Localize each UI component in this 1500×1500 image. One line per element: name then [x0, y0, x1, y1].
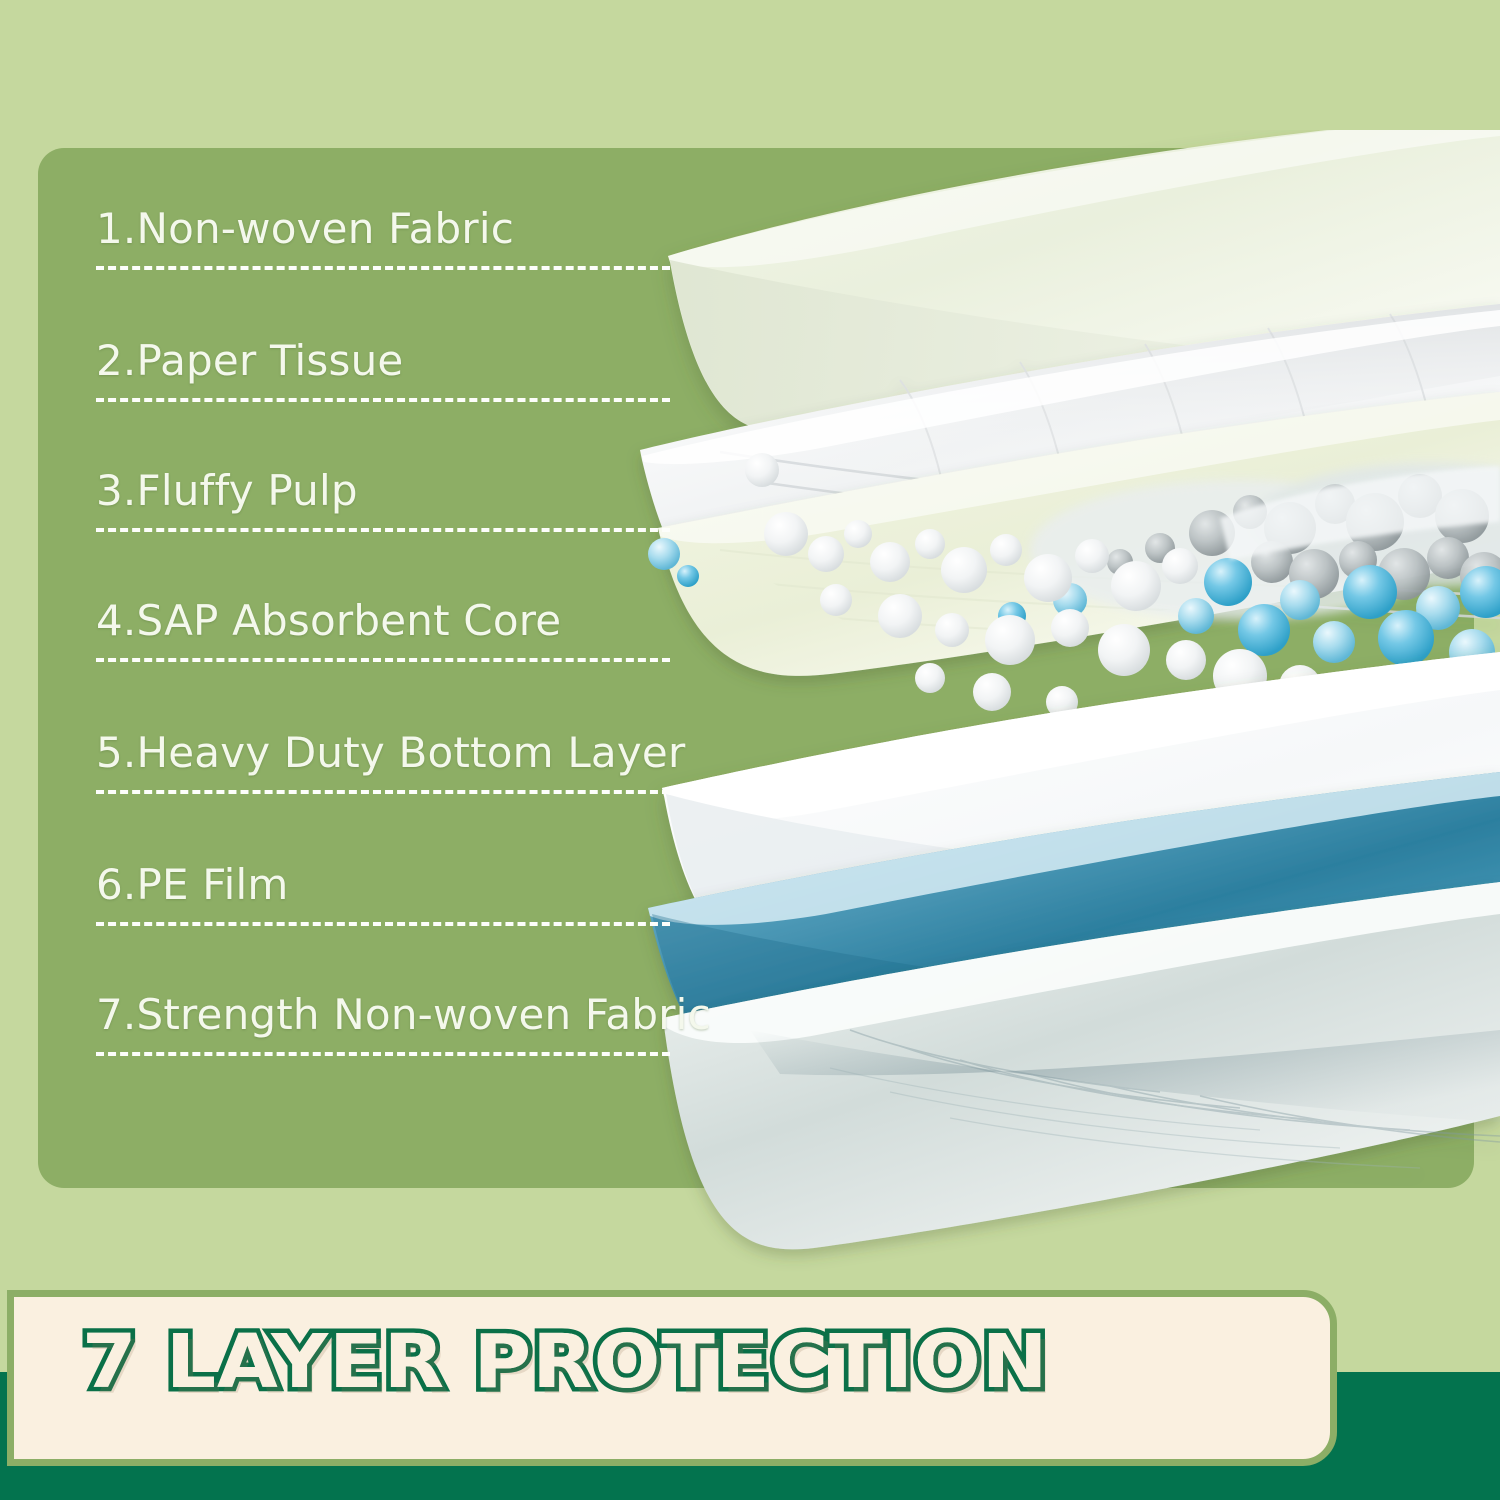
leader-line-4	[96, 658, 670, 662]
layer-label-text-6: 6.PE Film	[96, 864, 288, 906]
headline-title: 7 LAYER PROTECTION	[82, 1325, 1048, 1399]
layer-label-row-1: 1.Non-woven Fabric	[96, 150, 670, 270]
layer-label-text-1: 1.Non-woven Fabric	[96, 208, 514, 250]
layer-label-list: 1.Non-woven Fabric 2.Paper Tissue 3.Fluf…	[0, 0, 1500, 1290]
layer-label-text-5: 5.Heavy Duty Bottom Layer	[96, 732, 685, 774]
layer-label-row-6: 6.PE Film	[96, 806, 670, 926]
layer-label-row-2: 2.Paper Tissue	[96, 282, 670, 402]
leader-line-7	[96, 1052, 670, 1056]
layer-label-text-3: 3.Fluffy Pulp	[96, 470, 358, 512]
layer-label-row-4: 4.SAP Absorbent Core	[96, 542, 670, 662]
leader-line-3	[96, 528, 670, 532]
layer-label-row-7: 7.Strength Non-woven Fabric	[96, 936, 670, 1056]
leader-line-2	[96, 398, 670, 402]
leader-line-1	[96, 266, 670, 270]
infographic-stage: 1.Non-woven Fabric 2.Paper Tissue 3.Fluf…	[0, 0, 1500, 1500]
layer-label-text-4: 4.SAP Absorbent Core	[96, 600, 561, 642]
layer-label-row-5: 5.Heavy Duty Bottom Layer	[96, 674, 670, 794]
layer-label-text-7: 7.Strength Non-woven Fabric	[96, 994, 711, 1036]
leader-line-6	[96, 922, 670, 926]
layer-label-row-3: 3.Fluffy Pulp	[96, 412, 670, 532]
leader-line-5	[96, 790, 670, 794]
layer-label-text-2: 2.Paper Tissue	[96, 340, 403, 382]
